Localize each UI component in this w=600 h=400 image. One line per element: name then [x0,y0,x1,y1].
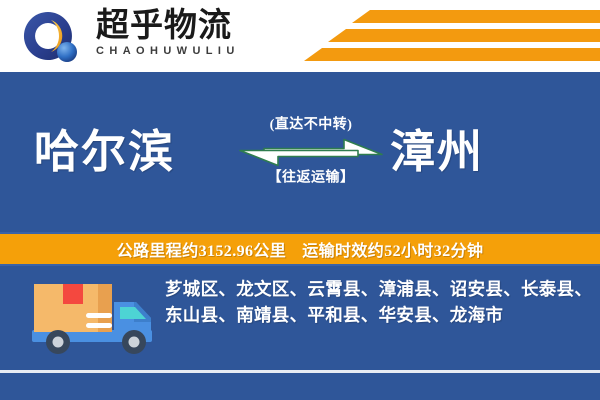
logo-circle-crescent-icon [22,10,82,66]
route-note-bottom: 【往返运输】 [236,170,386,188]
duration-text: 运输时效约52小时32分钟 [302,237,483,261]
service-areas-list: 芗城区、龙文区、云霄县、漳浦县、诏安县、长泰县、 东山县、南靖县、平和县、华安县… [165,276,590,328]
service-areas-line-1: 芗城区、龙文区、云霄县、漳浦县、诏安县、长泰县、 [165,276,590,302]
delivery-truck-icon [30,278,160,358]
brand-name-en: CHAOHUWULIU [96,45,276,57]
bidirectional-arrow-icon [236,138,386,168]
route-middle: (直达不中转) 【往返运输】 [236,117,386,188]
stripe-top [352,10,600,23]
brand-block: 超乎物流 CHAOHUWULIU [96,8,276,57]
destination-city: 漳州 [390,126,484,178]
route-note-top: (直达不中转) [236,117,386,135]
service-areas-line-2: 东山县、南靖县、平和县、华安县、龙海市 [165,302,590,328]
stripe-bottom [304,48,600,61]
distance-text: 公路里程约3152.96公里 [117,237,287,261]
transport-info-bar: 公路里程约3152.96公里 运输时效约52小时32分钟 [0,234,600,264]
banner-footer [0,373,600,400]
brand-name-cn: 超乎物流 [96,8,276,44]
stripe-middle [328,29,600,42]
route-section: 哈尔滨 (直达不中转) 【往返运输】 漳州 [0,72,600,232]
logistics-route-banner: 超乎物流 CHAOHUWULIU 哈尔滨 (直达不中转) 【往返运输】 [0,0,600,400]
orange-stripes-decoration-icon [280,8,600,64]
banner-header: 超乎物流 CHAOHUWULIU [0,0,600,72]
service-areas-section: 芗城区、龙文区、云霄县、漳浦县、诏安县、长泰县、 东山县、南靖县、平和县、华安县… [0,266,600,370]
origin-city: 哈尔滨 [34,126,175,178]
